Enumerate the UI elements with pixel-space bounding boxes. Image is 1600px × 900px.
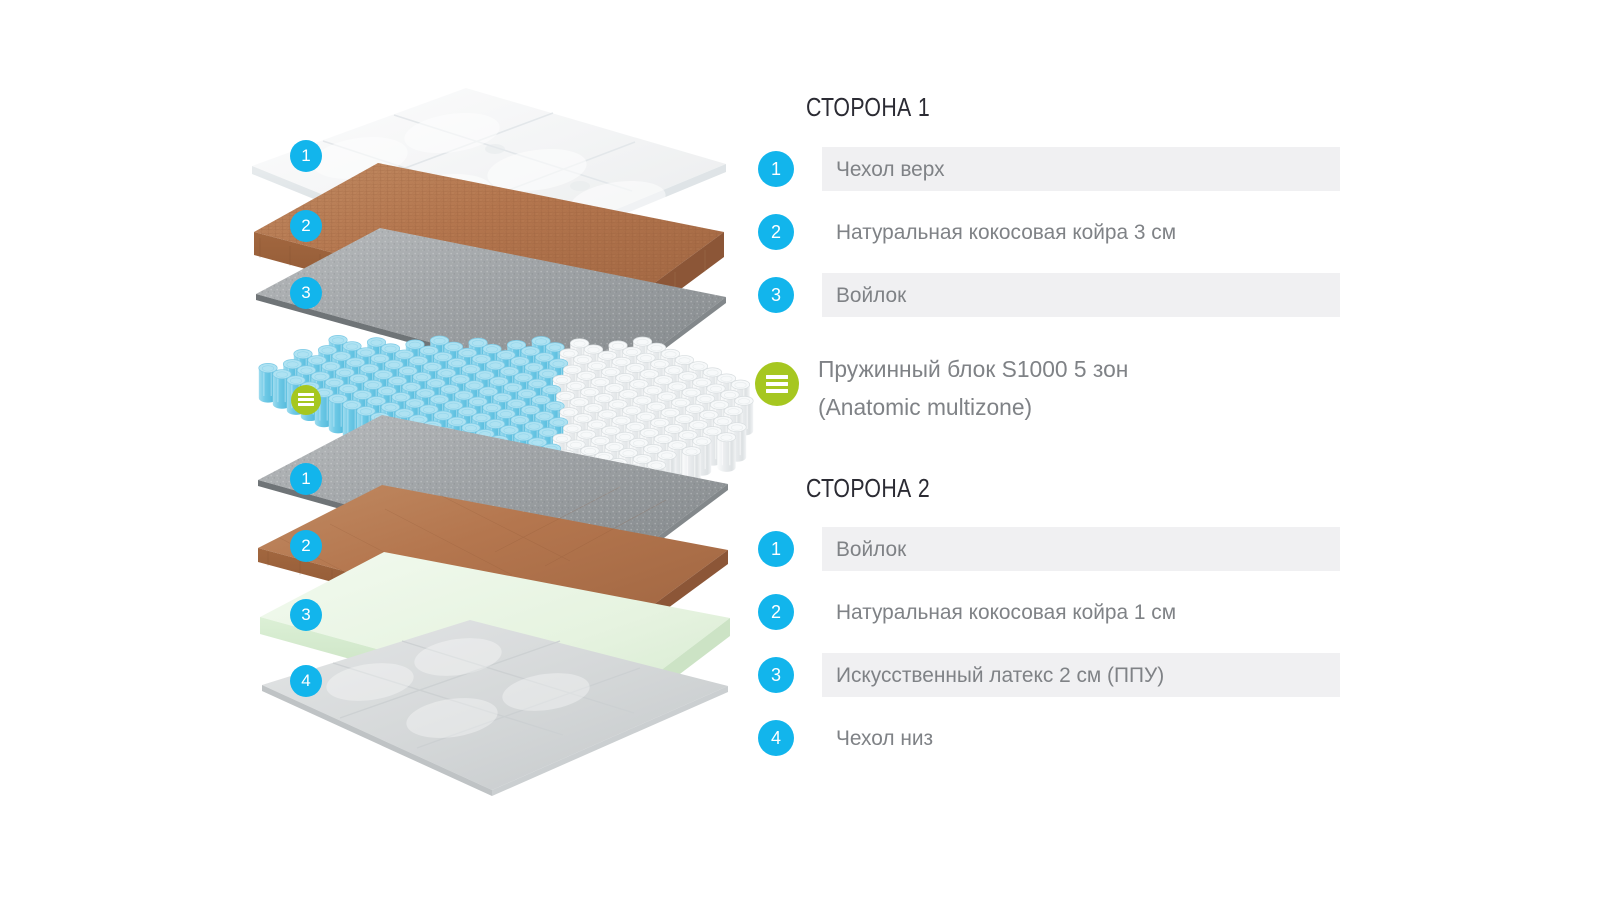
legend-row-side2-4[interactable]: 4 Чехол низ: [750, 716, 1340, 760]
row-badge-number: 3: [758, 657, 794, 693]
illu-badge-2-top: 2: [290, 210, 322, 242]
row-label: Искусственный латекс 2 см (ППУ): [836, 653, 1164, 697]
illu-badge-1-bottom: 1: [290, 463, 322, 495]
layers-icon: [766, 375, 788, 397]
illu-badge-2-bottom: 2: [290, 530, 322, 562]
layers-icon: [298, 385, 314, 406]
legend-row-side2-3[interactable]: 3 Искусственный латекс 2 см (ППУ): [750, 653, 1340, 697]
spring-block-text: Пружинный блок S1000 5 зон (Anatomic mul…: [818, 350, 1128, 426]
row-badge-number: 3: [758, 277, 794, 313]
row-label: Войлок: [836, 273, 906, 317]
layers-legend-panel: СТОРОНА 1 1 Чехол верх 2 Натуральная кок…: [750, 0, 1600, 900]
row-label: Войлок: [836, 527, 906, 571]
section-title-side-1: СТОРОНА 1: [806, 92, 930, 123]
row-label: Натуральная кокосовая койра 3 см: [836, 210, 1176, 254]
illu-badge-spring-block: [291, 385, 321, 415]
row-badge-number: 4: [758, 720, 794, 756]
legend-row-side2-2[interactable]: 2 Натуральная кокосовая койра 1 см: [750, 590, 1340, 634]
mattress-exploded-illustration: 1 2 3 1 2 3 4: [0, 0, 760, 900]
legend-row-side2-1[interactable]: 1 Войлок: [750, 527, 1340, 571]
row-label: Натуральная кокосовая койра 1 см: [836, 590, 1176, 634]
illu-badge-4-bottom: 4: [290, 665, 322, 697]
mattress-layers-infographic: 1 2 3 1 2 3 4 СТОРОНА 1 1 Чехол верх 2 Н…: [0, 0, 1600, 900]
row-badge-number: 2: [758, 214, 794, 250]
row-label: Чехол верх: [836, 147, 945, 191]
illu-badge-3-top: 3: [290, 277, 322, 309]
legend-row-side1-3[interactable]: 3 Войлок: [750, 273, 1340, 317]
row-badge-number: 1: [758, 531, 794, 567]
spring-block-icon-circle: [755, 362, 799, 406]
spring-block-line-2: (Anatomic multizone): [818, 388, 1128, 426]
spring-block-feature[interactable]: Пружинный блок S1000 5 зон (Anatomic mul…: [750, 352, 1370, 438]
illu-badge-3-bottom: 3: [290, 599, 322, 631]
mattress-layers-svg: [0, 0, 760, 900]
row-badge-number: 1: [758, 151, 794, 187]
legend-row-side1-1[interactable]: 1 Чехол верх: [750, 147, 1340, 191]
illu-badge-1-top: 1: [290, 140, 322, 172]
section-title-side-2: СТОРОНА 2: [806, 473, 930, 504]
legend-row-side1-2[interactable]: 2 Натуральная кокосовая койра 3 см: [750, 210, 1340, 254]
row-label: Чехол низ: [836, 716, 933, 760]
spring-block-line-1: Пружинный блок S1000 5 зон: [818, 350, 1128, 388]
row-badge-number: 2: [758, 594, 794, 630]
